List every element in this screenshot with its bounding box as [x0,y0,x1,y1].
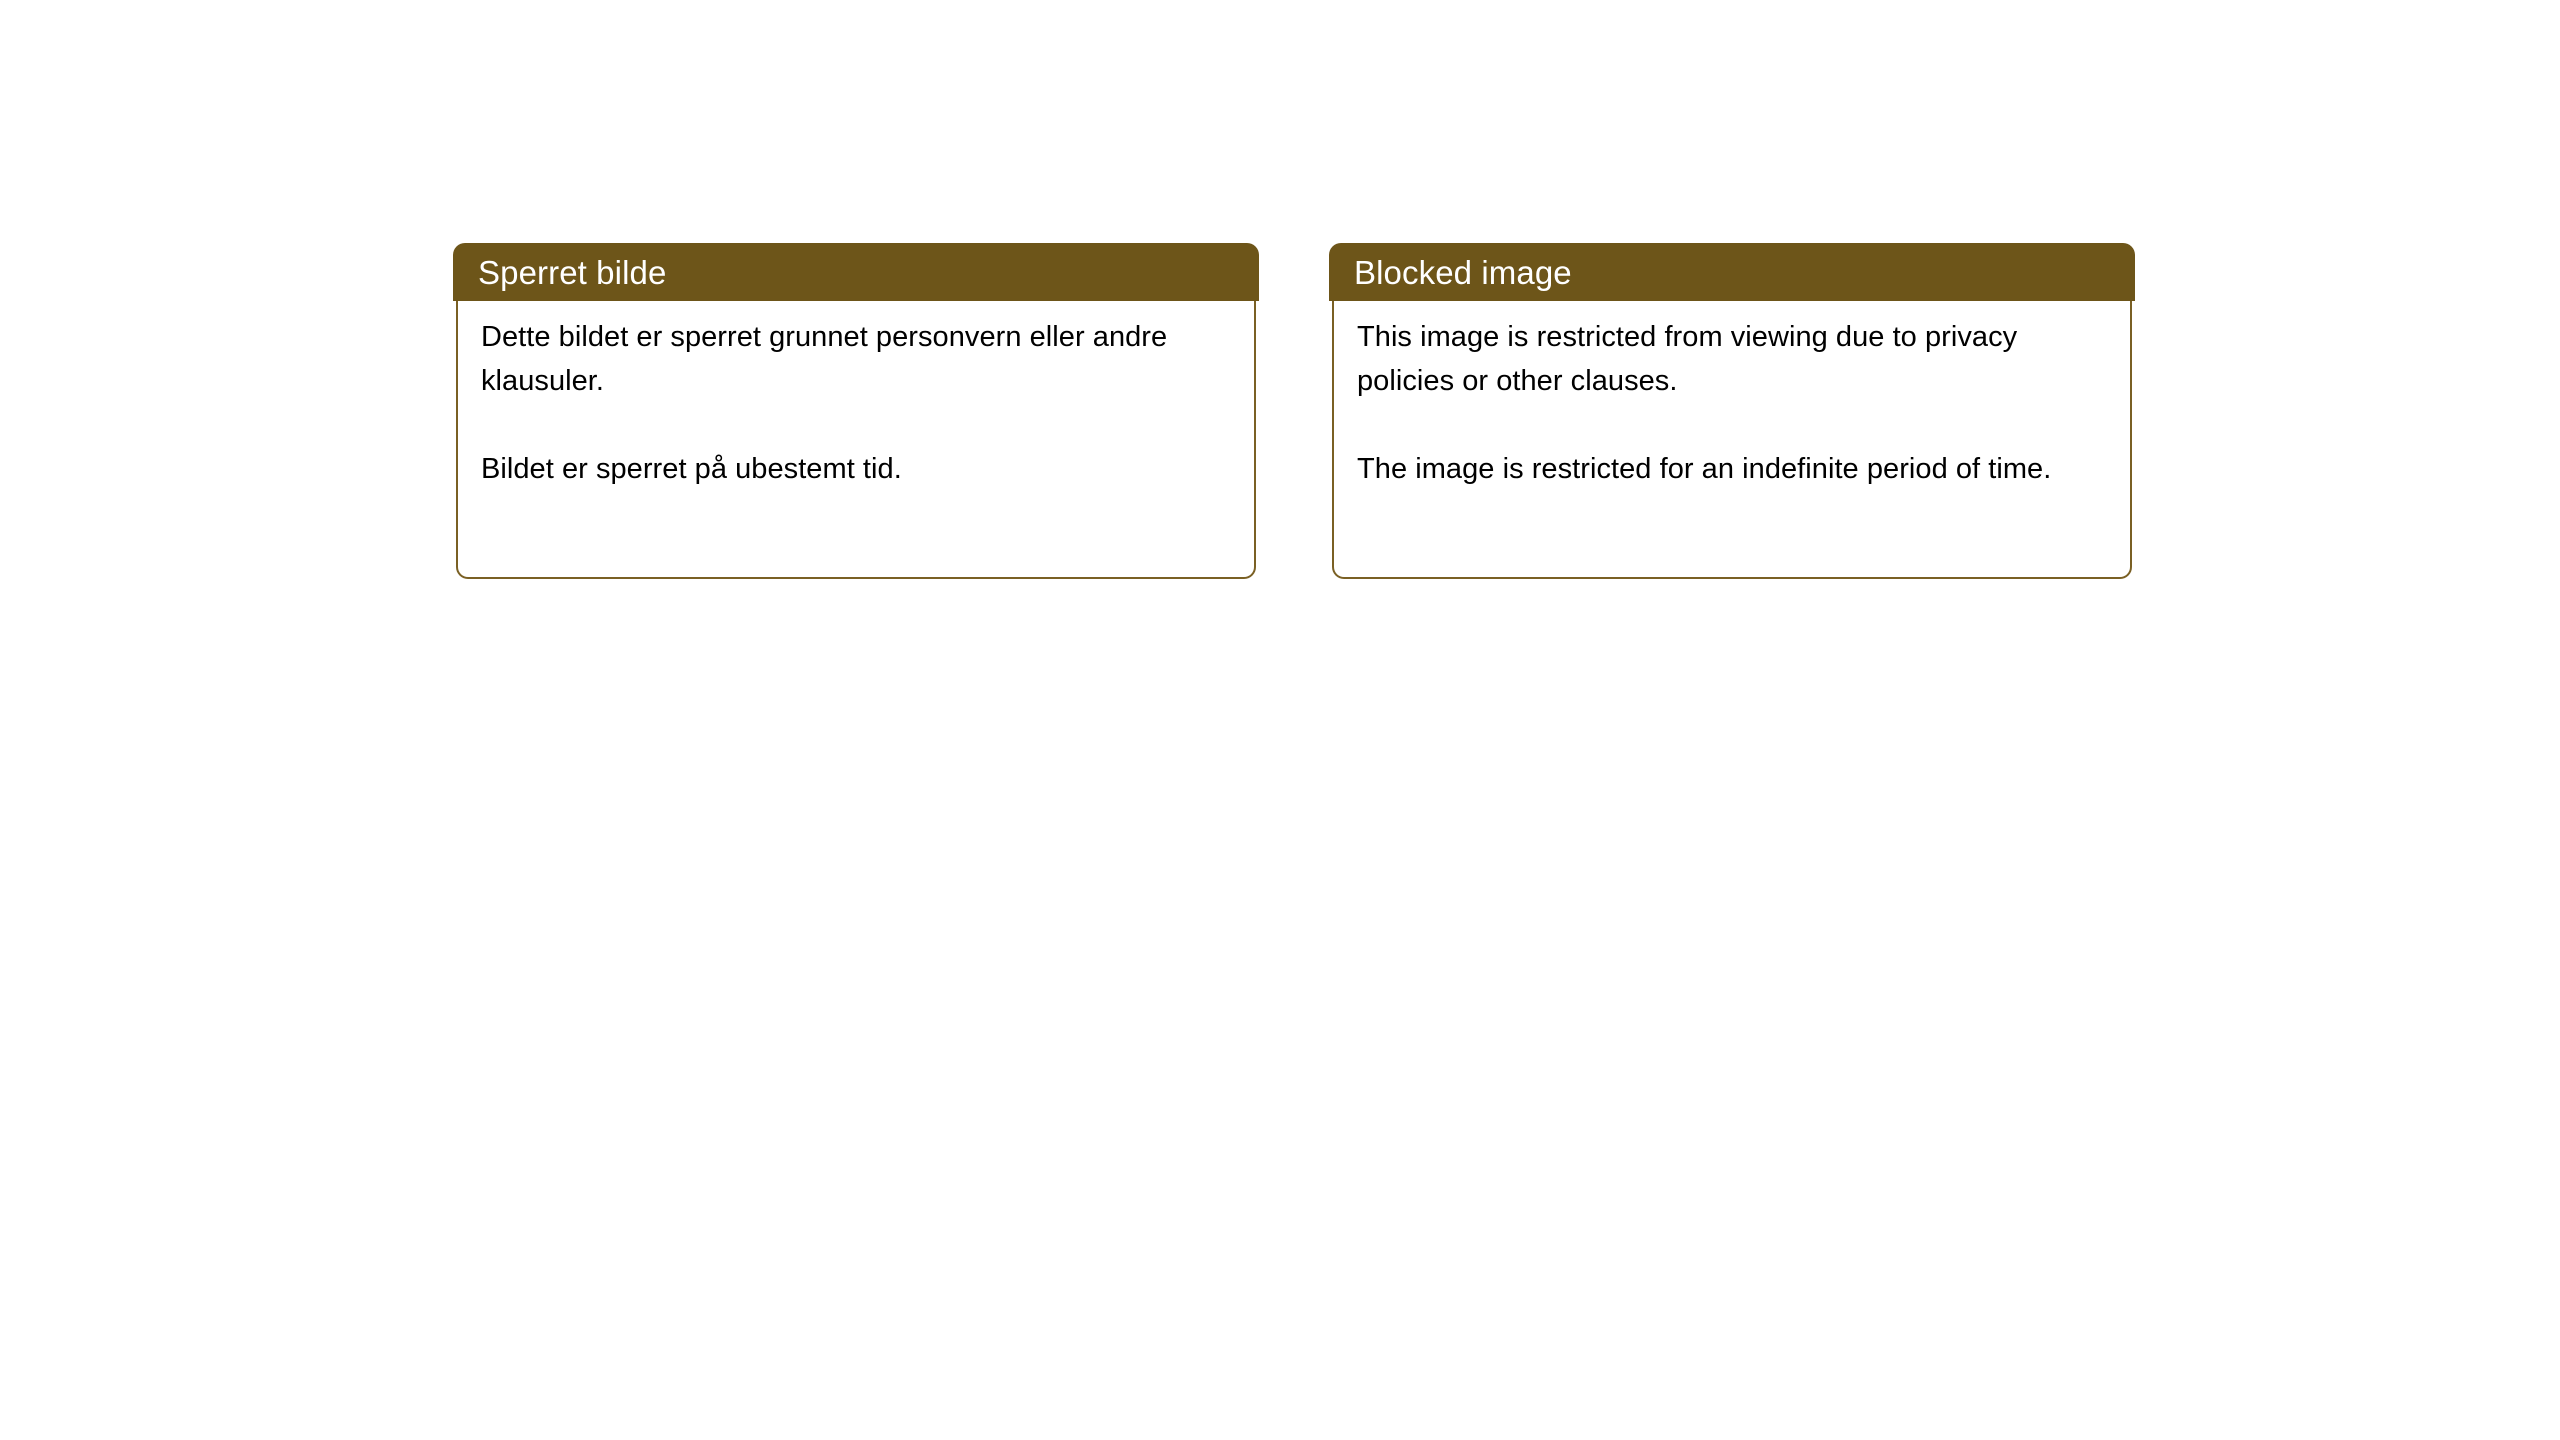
blocked-image-notice-area: Sperret bilde Dette bildet er sperret gr… [0,0,2560,1440]
notice-paragraph-duration-norwegian: Bildet er sperret på ubestemt tid. [481,447,1229,491]
notice-paragraph-duration-english: The image is restricted for an indefinit… [1357,447,2105,491]
notice-paragraph-reason-norwegian: Dette bildet er sperret grunnet personve… [481,315,1229,403]
notice-paragraph-reason-english: This image is restricted from viewing du… [1357,315,2105,403]
card-content-norwegian: Dette bildet er sperret grunnet personve… [453,243,1259,491]
blocked-image-card-english: Blocked image This image is restricted f… [1329,243,2135,579]
blocked-image-card-norwegian: Sperret bilde Dette bildet er sperret gr… [453,243,1259,579]
card-content-english: This image is restricted from viewing du… [1329,243,2135,491]
